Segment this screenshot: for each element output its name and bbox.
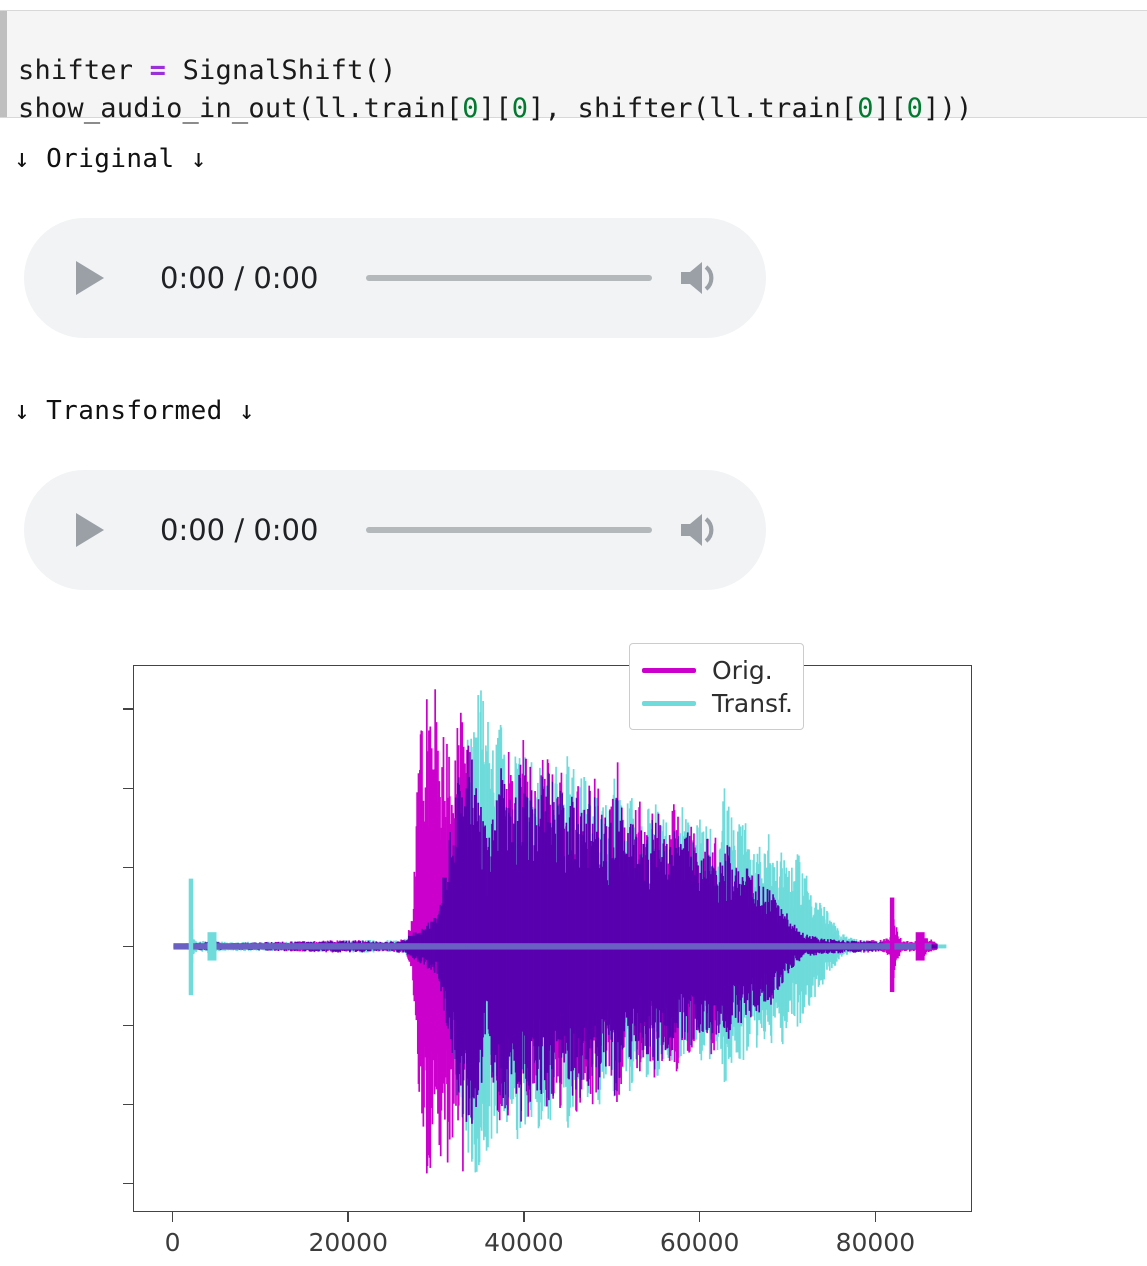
original-caption: ↓ Original ↓	[14, 144, 207, 174]
x-axis-tick-label: 40000	[484, 1228, 564, 1257]
chart-legend: Orig. Transf.	[629, 643, 804, 730]
x-axis-tick-mark	[875, 1212, 877, 1222]
code-token: 0	[857, 93, 873, 124]
speaker-icon[interactable]	[678, 258, 724, 298]
code-token: 0	[512, 93, 528, 124]
y-axis-tick-mark	[123, 1025, 133, 1027]
code-token: ], shifter(ll.train[	[528, 93, 857, 124]
y-axis-tick-mark	[123, 1104, 133, 1106]
speaker-icon[interactable]	[678, 510, 724, 550]
x-axis-tick-label: 0	[165, 1228, 181, 1257]
y-axis-tick-mark	[123, 788, 133, 790]
transformed-caption: ↓ Transformed ↓	[14, 396, 255, 426]
plot-area	[133, 665, 972, 1212]
code-cell-gutter	[0, 11, 7, 117]
waveform-transient	[208, 932, 217, 960]
legend-swatch-orig	[642, 668, 696, 673]
x-axis-tick-mark	[523, 1212, 525, 1222]
play-icon[interactable]	[76, 513, 106, 547]
audio-time-display-original: 0:00 / 0:00	[160, 261, 318, 295]
code-token: ][	[874, 93, 907, 124]
waveform-chart: 0.150.100.050.00−0.05−0.10−0.15 02000040…	[0, 630, 1000, 1266]
audio-player-original[interactable]: 0:00 / 0:00	[24, 218, 766, 338]
waveform-plot-svg	[134, 666, 971, 1211]
code-token: SignalShift()	[166, 55, 396, 86]
x-axis-tick-mark	[347, 1212, 349, 1222]
audio-progress-slider-transformed[interactable]	[366, 527, 652, 533]
audio-progress-slider-original[interactable]	[366, 275, 652, 281]
legend-item: Transf.	[642, 687, 791, 720]
code-token: show_audio_in_out(ll.train[	[18, 93, 462, 124]
y-axis-tick-mark	[123, 1183, 133, 1185]
audio-time-display-transformed: 0:00 / 0:00	[160, 513, 318, 547]
code-token: ]))	[923, 93, 972, 124]
audio-player-transformed[interactable]: 0:00 / 0:00	[24, 470, 766, 590]
y-axis-tick-mark	[123, 708, 133, 710]
x-axis-tick-label: 20000	[308, 1228, 388, 1257]
legend-swatch-transf	[642, 701, 696, 706]
y-axis-tick-mark	[123, 867, 133, 869]
code-token: =	[150, 55, 166, 86]
code-token: shifter	[18, 55, 150, 86]
waveform-transient	[916, 932, 925, 960]
waveform-transient	[189, 879, 193, 996]
x-axis-tick-label: 60000	[660, 1228, 740, 1257]
code-token: 0	[462, 93, 478, 124]
waveform-baseline	[173, 943, 931, 949]
y-axis-tick-mark	[123, 946, 133, 948]
code-token: 0	[907, 93, 923, 124]
legend-label-transf: Transf.	[712, 689, 793, 718]
x-axis-tick-label: 80000	[836, 1228, 916, 1257]
waveform-transient	[890, 898, 894, 993]
x-axis-tick-mark	[699, 1212, 701, 1222]
x-axis-tick-mark	[172, 1212, 174, 1222]
code-cell[interactable]: shifter = SignalShift() show_audio_in_ou…	[0, 10, 1147, 118]
code-token: ][	[479, 93, 512, 124]
legend-label-orig: Orig.	[712, 656, 773, 685]
code-editor-text[interactable]: shifter = SignalShift() show_audio_in_ou…	[18, 52, 1143, 128]
play-icon[interactable]	[76, 261, 106, 295]
legend-item: Orig.	[642, 654, 791, 687]
